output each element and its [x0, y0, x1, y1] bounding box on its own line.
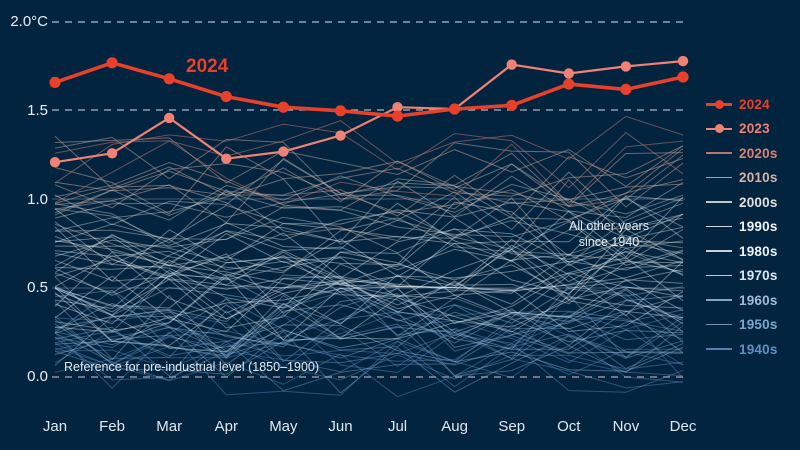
series-marker-2023 — [278, 146, 288, 156]
chart-legend: 202420232020s2010s2000s1990s1980s1970s19… — [706, 92, 778, 362]
series-marker-2024 — [107, 57, 118, 68]
series-marker-2024 — [278, 102, 289, 113]
series-marker-2023 — [50, 157, 60, 167]
background-years-spaghetti — [55, 116, 683, 396]
x-axis-tick-label: May — [253, 418, 313, 435]
legend-swatch-1980s — [706, 244, 732, 258]
y-axis-tick-label: 0.0 — [0, 368, 48, 385]
series-marker-2024 — [335, 105, 346, 116]
series-marker-2024 — [506, 100, 517, 111]
legend-label: 1980s — [739, 244, 778, 259]
legend-label: 1990s — [739, 219, 778, 234]
background-year-line — [55, 137, 683, 207]
x-axis-tick-label: Sep — [482, 418, 542, 435]
series-marker-2023 — [335, 130, 345, 140]
series-marker-2023 — [507, 59, 517, 69]
legend-label: 1940s — [739, 342, 778, 357]
series-marker-2023 — [621, 61, 631, 71]
legend-swatch-1990s — [706, 220, 732, 234]
series-marker-2024 — [449, 103, 460, 114]
legend-item-2023[interactable]: 2023 — [706, 117, 778, 142]
climate-stripes-line-chart: 2.0°C1.51.00.50.0 JanFebMarAprMayJunJulA… — [0, 0, 800, 450]
y-axis-tick-label: 1.5 — [0, 102, 48, 119]
legend-swatch-2010s — [706, 171, 732, 185]
series-marker-2023 — [678, 56, 688, 66]
x-axis-tick-label: Apr — [196, 418, 256, 435]
legend-item-1950s[interactable]: 1950s — [706, 313, 778, 338]
x-axis-tick-label: Aug — [425, 418, 485, 435]
series-marker-2024 — [677, 71, 688, 82]
series-marker-2024 — [164, 73, 175, 84]
legend-item-1990s[interactable]: 1990s — [706, 215, 778, 240]
y-axis-tick-label: 2.0°C — [0, 13, 48, 30]
legend-item-1960s[interactable]: 1960s — [706, 288, 778, 313]
legend-item-1970s[interactable]: 1970s — [706, 264, 778, 289]
annotation-preindustrial-reference: Reference for pre-industrial level (1850… — [64, 360, 319, 374]
x-axis-tick-label: Oct — [539, 418, 599, 435]
legend-swatch-2024 — [706, 97, 732, 111]
legend-label: 2024 — [739, 97, 770, 112]
series-marker-2024 — [392, 111, 403, 122]
y-axis-tick-label: 1.0 — [0, 191, 48, 208]
series-marker-2024 — [49, 77, 60, 88]
series-marker-2024 — [221, 91, 232, 102]
x-axis-tick-label: Jan — [25, 418, 85, 435]
x-axis-tick-label: Mar — [139, 418, 199, 435]
series-marker-2024 — [563, 79, 574, 90]
legend-label: 2023 — [739, 121, 770, 136]
legend-label: 1960s — [739, 293, 778, 308]
x-axis-tick-label: Jul — [368, 418, 428, 435]
series-marker-2023 — [564, 68, 574, 78]
legend-swatch-1960s — [706, 293, 732, 307]
background-year-line — [55, 275, 683, 342]
y-axis-tick-label: 0.5 — [0, 279, 48, 296]
legend-item-2020s[interactable]: 2020s — [706, 141, 778, 166]
legend-swatch-1940s — [706, 342, 732, 356]
legend-label: 2000s — [739, 195, 778, 210]
legend-label: 1950s — [739, 317, 778, 332]
background-year-line — [55, 116, 683, 163]
legend-item-2024[interactable]: 2024 — [706, 92, 778, 117]
legend-item-2010s[interactable]: 2010s — [706, 166, 778, 191]
legend-label: 2020s — [739, 146, 778, 161]
x-axis-tick-label: Jun — [310, 418, 370, 435]
x-axis-tick-label: Feb — [82, 418, 142, 435]
series-marker-2024 — [620, 84, 631, 95]
legend-swatch-2000s — [706, 195, 732, 209]
x-axis-tick-label: Dec — [653, 418, 713, 435]
legend-item-1940s[interactable]: 1940s — [706, 337, 778, 362]
x-axis-tick-label: Nov — [596, 418, 656, 435]
series-marker-2023 — [221, 154, 231, 164]
background-year-line — [55, 138, 683, 186]
chart-canvas — [0, 0, 800, 450]
legend-item-1980s[interactable]: 1980s — [706, 239, 778, 264]
series-marker-2023 — [107, 148, 117, 158]
series-marker-2023 — [164, 113, 174, 123]
legend-swatch-2020s — [706, 146, 732, 160]
background-year-line — [55, 160, 683, 225]
annotation-all-other-years-line1: All other years — [549, 219, 669, 233]
series-2024-line — [49, 57, 688, 122]
legend-label: 1970s — [739, 268, 778, 283]
legend-swatch-1970s — [706, 269, 732, 283]
legend-swatch-2023 — [706, 122, 732, 136]
annotation-all-other-years-line2: since 1940 — [549, 235, 669, 249]
legend-label: 2010s — [739, 170, 778, 185]
series-label-2024: 2024 — [186, 56, 228, 78]
legend-item-2000s[interactable]: 2000s — [706, 190, 778, 215]
legend-swatch-1950s — [706, 318, 732, 332]
